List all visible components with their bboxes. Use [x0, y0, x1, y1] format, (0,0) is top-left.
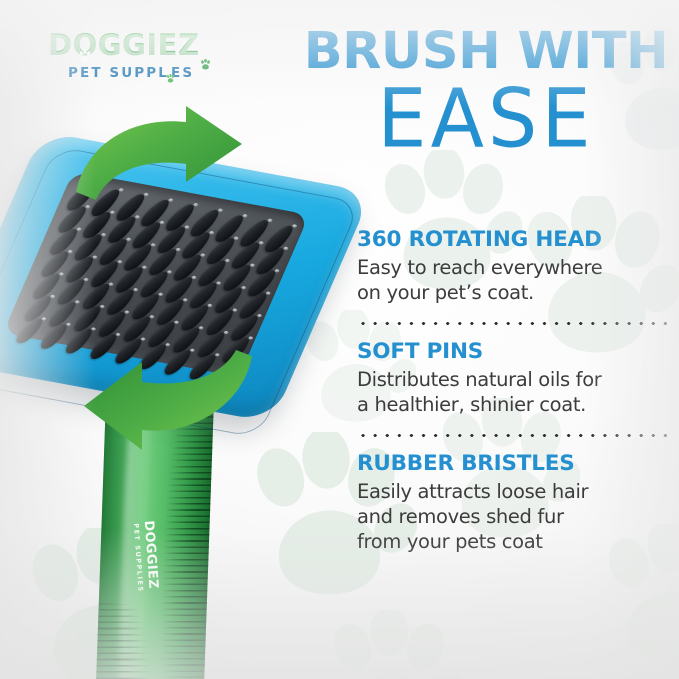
feature-divider — [357, 434, 667, 437]
paw-print-icon — [79, 40, 92, 53]
brand-letter-o: O — [73, 31, 98, 60]
curved-arrow-right-icon — [74, 100, 274, 210]
brand-wordmark: D O GGIEZ — [48, 31, 228, 60]
feature-title: RUBBER BRISTLES — [357, 452, 667, 476]
brand-name-part-3: GGIEZ — [98, 31, 200, 60]
brand-logo: D O GGIEZ — [48, 31, 228, 81]
brand-name-part-1: D — [48, 31, 73, 60]
paw-print-icon — [166, 72, 175, 81]
feature-body-line: Distributes natural oils for — [357, 367, 667, 392]
feature-title: SOFT PINS — [357, 340, 667, 364]
paw-print-icon — [200, 47, 211, 58]
feature-body: Distributes natural oils for a healthier… — [357, 367, 667, 418]
feature-body: Easy to reach everywhere on your pet’s c… — [357, 255, 667, 306]
headline-line-2-text: EASE — [377, 80, 594, 159]
feature-divider — [357, 322, 667, 325]
curved-arrow-left-icon — [46, 340, 256, 460]
feature-body-line: Easily attracts loose hair — [357, 479, 667, 504]
product-image: DOGGIEZ PET SUPPLIES — [0, 100, 348, 679]
feature-list: 360 ROTATING HEAD Easy to reach everywhe… — [357, 228, 667, 555]
feature-body: Easily attracts loose hair and removes s… — [357, 479, 667, 555]
page-title: BRUSH WITH EASE — [300, 26, 672, 156]
feature-title: 360 ROTATING HEAD — [357, 228, 667, 252]
brand-tagline-part-1: PET SUPPL — [68, 65, 169, 81]
headline-line-2: EASE — [300, 80, 672, 159]
feature-body-line: from your pets coat — [357, 529, 667, 554]
feature-item-rotating-head: 360 ROTATING HEAD Easy to reach everywhe… — [357, 228, 667, 306]
feature-body-line: and removes shed fur — [357, 504, 667, 529]
headline-line-1: BRUSH WITH — [300, 26, 672, 78]
feature-body-line: Easy to reach everywhere — [357, 255, 667, 280]
feature-body-line: on your pet’s coat. — [357, 280, 667, 305]
feature-item-rubber-bristles: RUBBER BRISTLES Easily attracts loose ha… — [357, 452, 667, 555]
handle-brand-logo: DOGGIEZ PET SUPPLIES — [132, 520, 161, 593]
feature-body-line: a healthier, shinier coat. — [357, 392, 667, 417]
infographic-canvas: D O GGIEZ — [0, 0, 679, 679]
feature-item-soft-pins: SOFT PINS Distributes natural oils for a… — [357, 340, 667, 418]
handle-grip-texture — [93, 603, 159, 679]
